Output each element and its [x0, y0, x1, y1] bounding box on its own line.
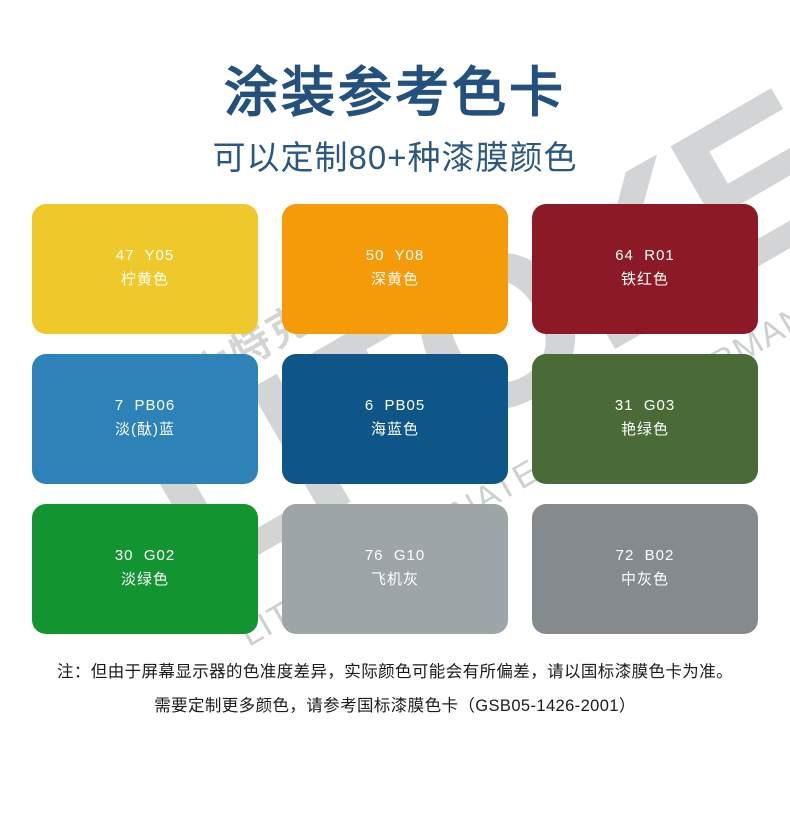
swatch-code: 76 G10: [365, 545, 425, 568]
swatch-code: 50 Y08: [366, 245, 424, 268]
swatch-color-name: 艳绿色: [621, 418, 669, 442]
swatch-color-name: 中灰色: [621, 568, 669, 592]
swatch-code: 6 PB05: [365, 395, 425, 418]
page-header: 涂装参考色卡 可以定制80+种漆膜颜色: [0, 0, 790, 178]
footer-note-line-2: 需要定制更多颜色，请参考国标漆膜色卡（GSB05-1426-2001）: [0, 690, 790, 724]
swatch-color-name: 深黄色: [371, 268, 419, 292]
color-swatch[interactable]: 47 Y05柠黄色: [32, 204, 258, 334]
swatch-code: 7 PB06: [115, 395, 175, 418]
swatch-color-name: 铁红色: [621, 268, 669, 292]
swatch-code: 30 G02: [115, 545, 175, 568]
color-swatch[interactable]: 64 R01铁红色: [532, 204, 758, 334]
footer-note-line-1: 注：但由于屏幕显示器的色准度差异，实际颜色可能会有所偏差，请以国标漆膜色卡为准。: [0, 656, 790, 690]
swatch-color-name: 飞机灰: [371, 568, 419, 592]
color-swatch[interactable]: 76 G10飞机灰: [282, 504, 508, 634]
color-swatch-grid: 47 Y05柠黄色50 Y08深黄色64 R01铁红色7 PB06淡(酞)蓝6 …: [32, 204, 758, 634]
color-card-page: LITOKE ® LITOKE ORIGINATES FROM GERMANY …: [0, 0, 790, 814]
swatch-code: 47 Y05: [116, 245, 174, 268]
footer-notes: 注：但由于屏幕显示器的色准度差异，实际颜色可能会有所偏差，请以国标漆膜色卡为准。…: [0, 656, 790, 724]
swatch-code: 31 G03: [615, 395, 675, 418]
page-title: 涂装参考色卡: [0, 62, 790, 124]
color-swatch[interactable]: 7 PB06淡(酞)蓝: [32, 354, 258, 484]
color-swatch[interactable]: 30 G02淡绿色: [32, 504, 258, 634]
swatch-color-name: 淡绿色: [121, 568, 169, 592]
swatch-code: 72 B02: [616, 545, 675, 568]
color-swatch[interactable]: 31 G03艳绿色: [532, 354, 758, 484]
page-subtitle: 可以定制80+种漆膜颜色: [0, 138, 790, 178]
swatch-color-name: 淡(酞)蓝: [115, 418, 175, 442]
color-swatch[interactable]: 72 B02中灰色: [532, 504, 758, 634]
color-swatch[interactable]: 6 PB05海蓝色: [282, 354, 508, 484]
color-swatch[interactable]: 50 Y08深黄色: [282, 204, 508, 334]
swatch-color-name: 海蓝色: [371, 418, 419, 442]
swatch-code: 64 R01: [615, 245, 675, 268]
swatch-color-name: 柠黄色: [121, 268, 169, 292]
